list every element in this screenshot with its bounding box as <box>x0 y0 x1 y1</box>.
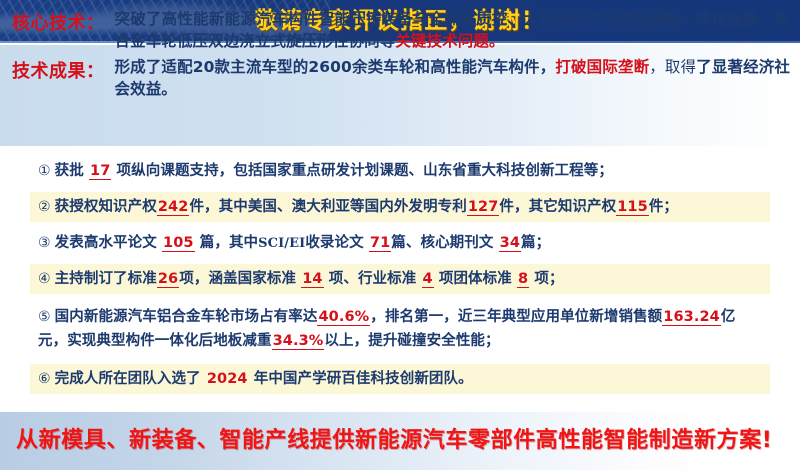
tech-result-text-1: 形成了适配20款主流车型的2600余类车轮和高性能汽车构件， <box>115 58 556 76</box>
list-item-marker: ④ <box>38 267 51 291</box>
list-item-text: 发表高水平论文 <box>55 235 162 251</box>
list-item-text: 获授权知识产权 <box>55 199 157 215</box>
core-tech-emphasis: 关键技术问题 <box>395 32 489 50</box>
list-item-text: 项纵向课题支持，包括国家重点研发计划课题、山东省重大科技创新工程等； <box>111 163 613 179</box>
list-item-marker: ⑤ <box>38 305 51 329</box>
core-tech-text: 突破了高性能新能源汽车构件智能压铸装备与全流程质控、大长深比汽车底板装配一体化连… <box>115 8 791 52</box>
list-item-text: 篇，其中 <box>195 235 259 251</box>
list-item-value: 127 <box>467 199 500 216</box>
list-item: ⑤国内新能源汽车铝合金车轮市场占有率达40.6%，排名第一，近三年典型应用单位新… <box>30 302 770 356</box>
list-item-text: 件； <box>649 199 678 215</box>
list-item: ①获批 17 项纵向课题支持，包括国家重点研发计划课题、山东省重大科技创新工程等… <box>30 156 770 186</box>
list-item-value: 105 <box>162 235 195 252</box>
tech-result-emphasis: 打破国际垄断 <box>555 58 649 76</box>
list-item-value: 34 <box>499 235 521 252</box>
list-item-value: 115 <box>616 199 649 216</box>
list-item-text: 获批 <box>55 163 89 179</box>
list-item-value: 163.24 <box>662 309 721 326</box>
list-item: ③发表高水平论文 105 篇，其中SCI/EI收录论文 71篇、核心期刊文 34… <box>30 228 770 259</box>
list-item-text: 篇； <box>521 235 550 251</box>
list-item-text: 年中国产学研百佳科技创新团队。 <box>249 371 473 387</box>
list-item-text: 项，涵盖国家标准 <box>179 271 301 287</box>
list-item-text: 篇、核心期刊文 <box>391 235 498 251</box>
list-item: ⑥完成人所在团队入选了 2024 年中国产学研百佳科技创新团队。 <box>30 364 770 394</box>
list-item-text: 国内新能源汽车铝合金车轮市场占有率达 <box>55 309 318 325</box>
tech-result-label: 技术成果： <box>12 56 105 83</box>
list-item-text: 主持制订了标准 <box>55 271 157 287</box>
tech-result-text-2: ，取得 <box>649 58 696 76</box>
list-item-value: 40.6% <box>317 309 370 326</box>
list-item-text: 件，其中美国、澳大利亚等国内外发明专利 <box>189 199 466 215</box>
footer-slogan: 从新模具、新装备、智能产线提供新能源汽车零部件高性能智能制造新方案! <box>16 412 796 470</box>
list-item-marker: ② <box>38 195 51 219</box>
list-item-marker: ⑥ <box>38 367 51 391</box>
list-item-value: 8 <box>517 271 529 288</box>
core-tech-text-1: 突破了高性能新能源汽车构件智能压铸装备与全流程质控、大长深比汽车底板装配一 <box>115 10 696 28</box>
list-item-text: 收录论文 <box>305 235 369 251</box>
list-item-value: 4 <box>422 271 434 288</box>
list-item-value: 34.3% <box>272 333 325 350</box>
achievements-list: ①获批 17 项纵向课题支持，包括国家重点研发计划课题、山东省重大科技创新工程等… <box>0 152 800 404</box>
list-item-text: 项、行业标准 <box>324 271 422 287</box>
list-item-value: 242 <box>157 199 190 216</box>
list-item-marker: ③ <box>38 231 51 255</box>
list-item-text: 件，其它知识产权 <box>499 199 616 215</box>
tech-result-text: 形成了适配20款主流车型的2600余类车轮和高性能汽车构件，打破国际垄断，取得了… <box>115 56 791 100</box>
list-item-text: 项； <box>529 271 563 287</box>
presentation-slide: 敬请专家评议指正，谢谢！ 核心技术： 突破了高性能新能源汽车构件智能压铸装备与全… <box>0 0 800 470</box>
list-item: ②获授权知识产权242件，其中美国、澳大利亚等国内外发明专利127件，其它知识产… <box>30 192 770 222</box>
list-item-marker: ① <box>38 159 51 183</box>
core-tech-label: 核心技术： <box>12 8 105 35</box>
list-item-text: 完成人所在团队入选了 <box>55 371 206 387</box>
list-item-value: 2024 <box>206 371 249 387</box>
core-tech-row: 核心技术： 突破了高性能新能源汽车构件智能压铸装备与全流程质控、大长深比汽车底板… <box>12 8 790 52</box>
list-item-text: 项团体标准 <box>434 271 517 287</box>
core-tech-text-3: 。 <box>489 32 505 50</box>
list-item-value: 71 <box>369 235 391 252</box>
list-item-text: SCI/EI <box>258 236 305 251</box>
list-item-value: 14 <box>301 271 323 288</box>
list-item-value: 17 <box>89 163 111 180</box>
list-item-text: ，排名第一，近三年典型应用单位新增销售额 <box>370 309 662 325</box>
list-item-text: 以上，提升碰撞安全性能； <box>324 333 499 349</box>
list-item-value: 26 <box>157 271 179 288</box>
tech-result-row: 技术成果： 形成了适配20款主流车型的2600余类车轮和高性能汽车构件，打破国际… <box>12 56 790 100</box>
list-item: ④主持制订了标准26项，涵盖国家标准 14 项、行业标准 4 项团体标准 8 项… <box>30 264 770 294</box>
